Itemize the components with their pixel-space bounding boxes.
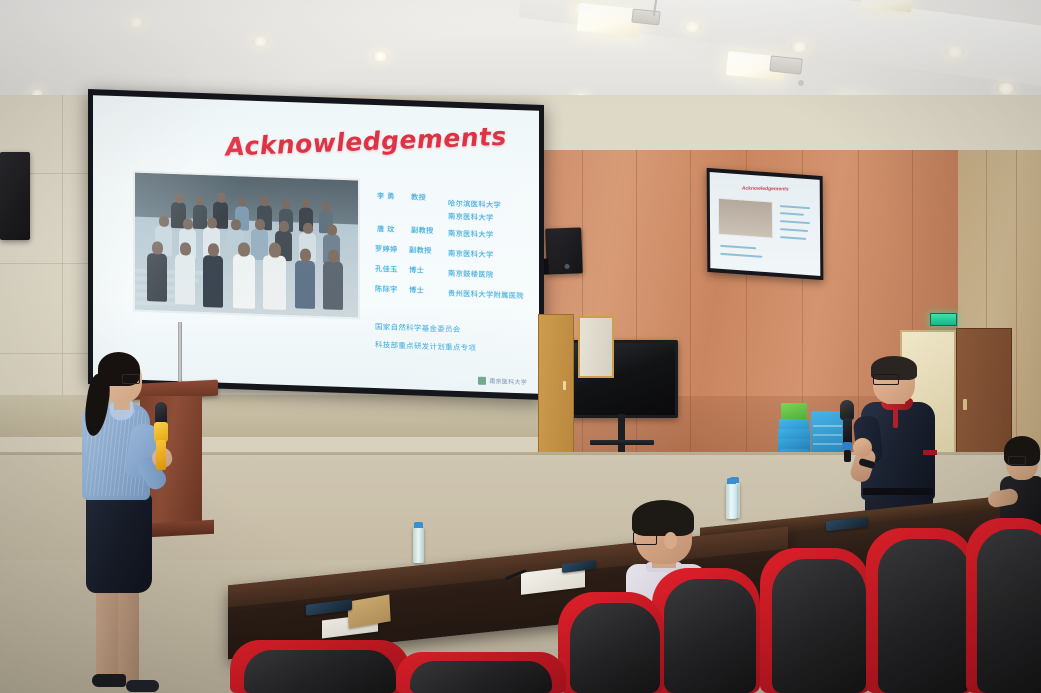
secondary-slide-surface: Acknowledgements	[710, 172, 821, 276]
ack-name: 罗婷婷	[375, 244, 409, 255]
ceiling-air-vent	[631, 9, 660, 26]
ack-affiliation: 哈尔滨医科大学	[448, 199, 501, 211]
ceiling-downlight	[128, 18, 145, 27]
presenter-leg	[118, 588, 139, 684]
emergency-exit-sign	[930, 313, 957, 326]
ack-name: 唐 玟	[377, 224, 411, 235]
auditorium-seat-left[interactable]	[396, 652, 566, 693]
presenter-woman	[66, 352, 206, 693]
ceiling-downlight	[996, 83, 1016, 94]
seated-man-hair	[632, 500, 694, 536]
ack-affiliation: 南京鼓楼医院	[448, 269, 494, 281]
slide-surface: Acknowledgements	[93, 95, 539, 394]
questioner-glasses	[873, 374, 899, 385]
ack-row: 唐 玟 副教授	[377, 224, 441, 236]
microphone-yellow[interactable]	[154, 402, 168, 470]
seated-man-ear	[664, 532, 677, 549]
ack-row: 孔佳玉 博士	[375, 264, 439, 276]
ack-role: 教授	[411, 192, 441, 203]
door-wood-center[interactable]	[538, 314, 574, 460]
ack-row: 陈际宇 博士	[375, 284, 439, 296]
ack-affiliation: 南京医科大学	[448, 212, 494, 224]
door-handle[interactable]	[563, 381, 566, 390]
presenter-leg	[96, 584, 118, 680]
slide-university-logo: 南京医科大学	[478, 376, 527, 387]
ceiling-downlight	[790, 42, 809, 52]
water-bottle[interactable]	[413, 527, 424, 563]
ack-affiliation: 南京医科大学	[448, 229, 494, 241]
ceiling-downlight	[683, 22, 702, 32]
university-crest-icon	[478, 376, 486, 384]
auditorium-seat[interactable]	[760, 548, 870, 693]
ack-role: 博士	[409, 265, 439, 276]
seated-man-glasses	[633, 532, 657, 545]
secondary-group-photo	[718, 198, 773, 239]
questioner-placket	[893, 406, 898, 428]
ack-affiliation: 南京医科大学	[448, 249, 494, 261]
wall-speaker-left	[0, 152, 30, 240]
secondary-slide-title: Acknowledgements	[742, 186, 789, 193]
slide-group-photo	[133, 171, 360, 320]
door-panel-inset	[578, 316, 614, 378]
ceiling-sensor	[798, 80, 804, 86]
presenter-shoe	[126, 680, 159, 692]
microphone-black[interactable]	[840, 400, 854, 462]
ceiling-air-vent	[769, 55, 802, 74]
auditorium-seat[interactable]	[558, 592, 664, 693]
ack-row: 李 勇 教授	[377, 191, 441, 203]
ack-name: 陈际宇	[375, 284, 409, 295]
presenter-glasses	[122, 374, 140, 384]
ack-row: 罗婷婷 副教授	[375, 244, 439, 256]
questioner-belt	[863, 488, 933, 495]
slide-title: Acknowledgements	[224, 121, 515, 161]
ceiling-downlight	[252, 37, 269, 46]
ack-role: 副教授	[411, 225, 441, 236]
conference-hall-scene: Acknowledgements	[0, 0, 1041, 693]
auditorium-seat[interactable]	[966, 518, 1041, 693]
auditorium-seat-left[interactable]	[230, 640, 410, 693]
ack-name: 李 勇	[377, 191, 411, 202]
questioner-sleeve-trim	[923, 450, 937, 455]
seated-person-glasses	[1008, 456, 1026, 465]
tv-cart-shelf	[590, 440, 654, 445]
ceiling-downlight	[945, 46, 965, 57]
ack-role: 副教授	[409, 245, 439, 256]
funding-line: 国家自然科学基金委员会	[375, 321, 461, 335]
auditorium-seat[interactable]	[652, 568, 760, 693]
secondary-wall-display[interactable]: Acknowledgements	[707, 168, 824, 280]
ack-affiliation: 贵州医科大学附属医院	[448, 289, 524, 302]
ceiling-downlight	[372, 52, 389, 61]
ack-role: 博士	[409, 285, 439, 296]
logo-text: 南京医科大学	[489, 376, 527, 386]
ack-name: 孔佳玉	[375, 264, 409, 275]
presenter-shoe	[92, 674, 126, 687]
wall-speaker-center	[545, 227, 583, 274]
presenter-skirt	[86, 493, 152, 593]
questioner-hand	[853, 438, 872, 457]
auditorium-seat[interactable]	[866, 528, 974, 693]
funding-line: 科技部重点研发计划重点专项	[375, 339, 476, 354]
